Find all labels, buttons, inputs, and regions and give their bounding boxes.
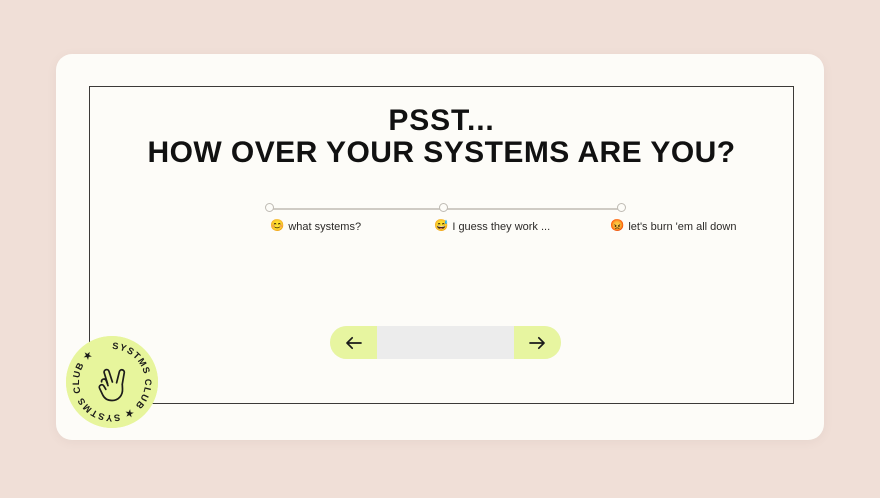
grinning-face-with-sweat-emoji: 😅: [434, 221, 448, 233]
slider-option-2[interactable]: 😡 let's burn 'em all down: [610, 221, 736, 233]
slide-navigation: [330, 326, 561, 359]
next-slide-button[interactable]: [514, 326, 561, 359]
previous-slide-button[interactable]: [330, 326, 377, 359]
slider-tick-1[interactable]: [439, 203, 448, 212]
slider-option-1-label: I guess they work ...: [452, 221, 550, 233]
systms-club-badge[interactable]: SYSTMS CLUB ★ SYSTMS CLUB ★: [66, 336, 158, 428]
slider-option-1[interactable]: 😅 I guess they work ...: [434, 221, 550, 233]
slide-frame: PSST... HOW OVER YOUR SYSTEMS ARE YOU? 😊…: [89, 86, 794, 404]
slider-option-0[interactable]: 😊 what systems?: [270, 221, 361, 233]
systems-scale-slider[interactable]: 😊 what systems? 😅 I guess they work ... …: [266, 199, 626, 251]
pouting-face-emoji: 😡: [610, 221, 624, 233]
page-title: PSST... HOW OVER YOUR SYSTEMS ARE YOU?: [90, 105, 793, 170]
slider-tick-0[interactable]: [265, 203, 274, 212]
slider-option-0-label: what systems?: [288, 221, 361, 233]
slider-tick-2[interactable]: [617, 203, 626, 212]
slider-label-row: 😊 what systems? 😅 I guess they work ... …: [226, 221, 666, 243]
slide-card: PSST... HOW OVER YOUR SYSTEMS ARE YOU? 😊…: [56, 54, 824, 440]
slider-option-2-label: let's burn 'em all down: [628, 221, 736, 233]
headline-line-1: PSST...: [90, 105, 793, 137]
smiling-face-emoji: 😊: [270, 221, 284, 233]
arrow-left-icon: [345, 336, 362, 350]
headline-line-2: HOW OVER YOUR SYSTEMS ARE YOU?: [90, 137, 793, 169]
arrow-right-icon: [529, 336, 546, 350]
